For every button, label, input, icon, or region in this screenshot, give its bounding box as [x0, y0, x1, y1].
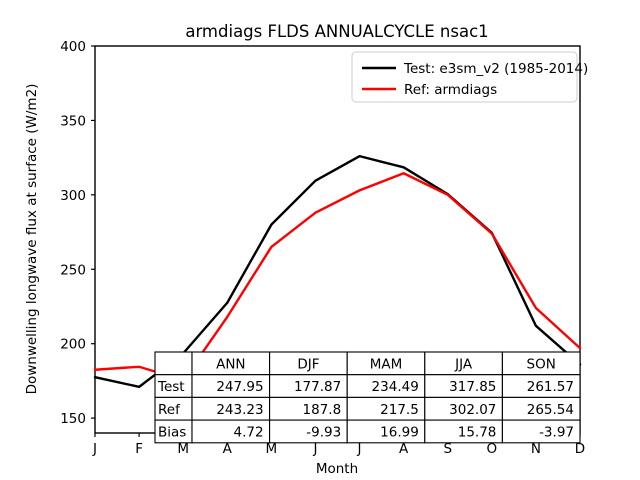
legend-label-test: Test: e3sm_v2 (1985-2014) — [403, 61, 588, 77]
annual-cycle-line-chart: armdiags FLDS ANNUALCYCLE nsac1 15020025… — [0, 0, 640, 480]
table-value-cell: 15.78 — [458, 424, 497, 440]
x-tick-label: J — [92, 441, 97, 457]
figure-canvas: armdiags FLDS ANNUALCYCLE nsac1 15020025… — [0, 0, 640, 480]
table-row-label: Bias — [158, 424, 186, 440]
y-tick-label: 300 — [60, 188, 86, 204]
table-value-cell: 4.72 — [234, 424, 264, 440]
table-value-cell: 234.49 — [372, 379, 419, 395]
y-tick-label: 250 — [60, 262, 86, 278]
table-column-header: SON — [527, 356, 556, 372]
table-value-cell: 217.5 — [380, 402, 419, 418]
x-tick-label: J — [357, 441, 362, 457]
x-tick-label: O — [486, 441, 497, 457]
y-tick-label: 400 — [60, 39, 86, 55]
legend-label-ref: Ref: armdiags — [404, 82, 497, 98]
x-tick-label: N — [531, 441, 541, 457]
table-value-cell: 261.57 — [527, 379, 574, 395]
table-value-cell: 243.23 — [216, 402, 263, 418]
x-tick-label: A — [223, 441, 233, 457]
table-value-cell: 187.8 — [303, 402, 342, 418]
x-tick-label: D — [575, 441, 585, 457]
x-tick-label: S — [443, 441, 452, 457]
chart-legend[interactable]: Test: e3sm_v2 (1985-2014)Ref: armdiags — [352, 52, 588, 102]
chart-title: armdiags FLDS ANNUALCYCLE nsac1 — [185, 22, 488, 41]
y-tick-label: 350 — [60, 113, 86, 129]
x-axis-title: Month — [316, 461, 358, 477]
y-axis-title: Downwelling longwave flux at surface (W/… — [24, 84, 40, 395]
table-value-cell: 16.99 — [380, 424, 419, 440]
table-row-label: Ref — [158, 402, 181, 418]
table-value-cell: 302.07 — [449, 402, 496, 418]
y-tick-label: 150 — [60, 411, 86, 427]
x-tick-label: J — [312, 441, 317, 457]
table-column-header: DJF — [297, 356, 319, 372]
table-column-header: ANN — [216, 356, 245, 372]
table-value-cell: 265.54 — [527, 402, 574, 418]
x-tick-label: M — [266, 441, 278, 457]
x-tick-label: M — [177, 441, 189, 457]
table-value-cell: -9.93 — [306, 424, 341, 440]
x-tick-label: A — [399, 441, 409, 457]
table-value-cell: 247.95 — [216, 379, 263, 395]
statistics-table: ANNDJFMAMJJASONTest247.95177.87234.49317… — [155, 352, 580, 443]
table-value-cell: 317.85 — [449, 379, 496, 395]
table-row-label: Test — [157, 379, 185, 395]
y-tick-label: 200 — [60, 337, 86, 353]
table-column-header: MAM — [370, 356, 403, 372]
table-cell — [155, 352, 192, 375]
x-tick-label: F — [135, 441, 143, 457]
table-value-cell: -3.97 — [539, 424, 574, 440]
table-value-cell: 177.87 — [294, 379, 341, 395]
table-column-header: JJA — [454, 356, 473, 372]
